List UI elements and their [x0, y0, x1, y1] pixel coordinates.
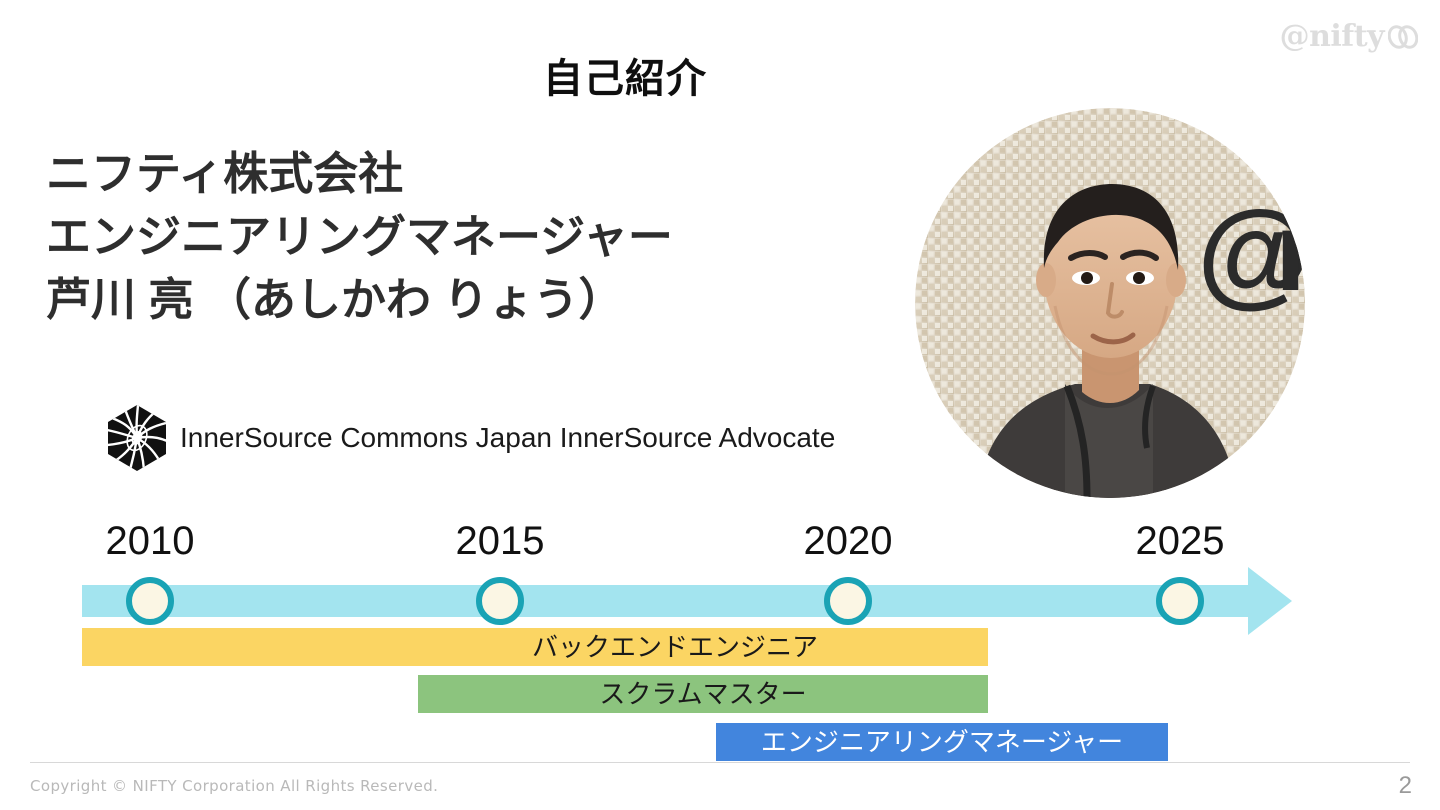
- timeline-track-scrum-master: スクラムマスター: [418, 675, 988, 713]
- profile-role: エンジニアリングマネージャー: [46, 205, 876, 268]
- timeline-arrow-shape: [82, 567, 1292, 635]
- page-title: 自己紹介: [0, 46, 1345, 104]
- timeline-track-label: エンジニアリングマネージャー: [761, 729, 1123, 755]
- profile-name: 芦川 亮 （あしかわ りょう）: [46, 268, 876, 331]
- advocate-label: InnerSource Commons Japan InnerSource Ad…: [180, 422, 835, 454]
- career-timeline: 2010 2015 2020 2025 バックエンドエンジニア スクラムマスター…: [0, 505, 1440, 775]
- timeline-marker-2010: [129, 580, 171, 622]
- page-number: 2: [1399, 772, 1412, 800]
- profile-company: ニフティ株式会社: [46, 142, 876, 205]
- timeline-marker-2025: [1159, 580, 1201, 622]
- timeline-year-label: 2025: [1136, 519, 1225, 564]
- footer-divider: [30, 762, 1410, 763]
- timeline-year-label: 2010: [106, 519, 195, 564]
- nifty-loop-mark-icon: [1388, 25, 1418, 49]
- timeline-track-label: バックエンドエンジニア: [532, 634, 818, 660]
- timeline-track-engineering-manager: エンジニアリングマネージャー: [716, 723, 1168, 761]
- innersource-advocate-row: InnerSource Commons Japan InnerSource Ad…: [106, 404, 835, 472]
- timeline-marker-2020: [827, 580, 869, 622]
- timeline-track-label: スクラムマスター: [599, 681, 806, 707]
- profile-portrait-photo: @ n: [915, 108, 1305, 498]
- timeline-track-backend: バックエンドエンジニア: [82, 628, 988, 666]
- portrait-illustration: @ n: [915, 108, 1305, 498]
- profile-text-block: ニフティ株式会社 エンジニアリングマネージャー 芦川 亮 （あしかわ りょう）: [46, 142, 876, 331]
- svg-text:n: n: [1275, 189, 1305, 314]
- innersource-commons-hexagon-logo-icon: [106, 404, 168, 472]
- footer-copyright: Copyright © NIFTY Corporation All Rights…: [30, 777, 438, 795]
- timeline-year-label: 2015: [456, 519, 545, 564]
- timeline-year-label: 2020: [804, 519, 893, 564]
- timeline-marker-2015: [479, 580, 521, 622]
- slide-canvas: @nifty 自己紹介 ニフティ株式会社 エンジニアリングマネージャー 芦川 亮…: [0, 0, 1440, 810]
